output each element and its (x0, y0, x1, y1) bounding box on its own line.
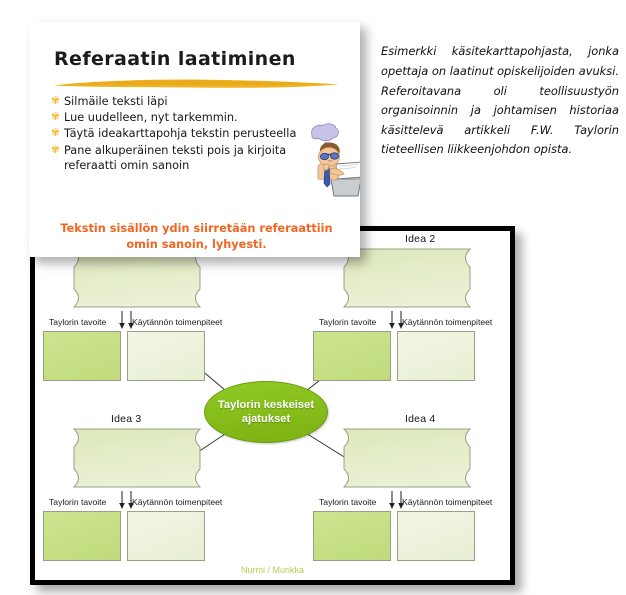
list-item: ✾ Täytä ideakarttapohja tekstin perustee… (51, 126, 301, 141)
presentation-slide[interactable]: Referaatin laatiminen ✾ Silmäile teksti … (29, 22, 360, 257)
down-arrow-icon-action-4 (397, 491, 407, 509)
idea-card-1[interactable] (65, 248, 209, 308)
goal-cell-4[interactable] (313, 511, 391, 561)
action-cell-3[interactable] (127, 511, 205, 561)
slide-bullet-list: ✾ Silmäile teksti läpi ✾ Lue uudelleen, … (51, 94, 301, 174)
sub-label-goal-2: Taylorin tavoite (319, 317, 376, 327)
bullet-text: Pane alkuperäinen teksti pois ja kirjoit… (64, 143, 301, 173)
title-underline-brushstroke (51, 76, 341, 89)
action-cell-4[interactable] (397, 511, 475, 561)
slide-highlight-line1: Tekstin sisällön ydin siirretään referaa… (60, 222, 332, 235)
idea-card-2[interactable] (335, 248, 479, 308)
idea-label-2: Idea 2 (405, 233, 435, 245)
down-arrow-icon-action-1 (127, 311, 137, 329)
down-arrow-icon-action-2 (397, 311, 407, 329)
flower-bullet-icon: ✾ (51, 126, 64, 141)
idea-label-4: Idea 4 (405, 413, 435, 425)
sub-label-action-1: Käytännön toimenpiteet (132, 317, 222, 327)
bullet-text: Täytä ideakarttapohja tekstin perusteell… (64, 126, 296, 141)
centre-node-label: Taylorin keskeiset ajatukset (204, 381, 328, 443)
centre-node-line1: Taylorin keskeiset (218, 399, 314, 411)
slide-title: Referaatin laatiminen (54, 48, 296, 70)
down-arrow-icon-action-3 (127, 491, 137, 509)
sub-label-action-2: Käytännön toimenpiteet (402, 317, 492, 327)
idea-card-4[interactable] (335, 428, 479, 488)
person-thinking-with-box-clipart (306, 122, 360, 198)
goal-cell-2[interactable] (313, 331, 391, 381)
concept-map-frame: Idea 1 Taylorin tavoite Käytännön toimen… (30, 226, 515, 585)
sub-label-goal-4: Taylorin tavoite (319, 497, 376, 507)
centre-node-line2: ajatukset (242, 413, 291, 425)
bullet-text: Silmäile teksti läpi (64, 94, 168, 109)
diagram-footer: Nurmi / Murikka (35, 565, 510, 575)
caption-paragraph: Esimerkki käsitekarttapohjasta, jonka op… (381, 42, 619, 160)
slide-highlight-text: Tekstin sisällön ydin siirretään referaa… (49, 221, 344, 253)
list-item: ✾ Pane alkuperäinen teksti pois ja kirjo… (51, 143, 301, 173)
flower-bullet-icon: ✾ (51, 143, 64, 158)
centre-node[interactable]: Taylorin keskeiset ajatukset (204, 381, 328, 443)
idea-card-3[interactable] (65, 428, 209, 488)
list-item: ✾ Lue uudelleen, nyt tarkemmin. (51, 110, 301, 125)
action-cell-2[interactable] (397, 331, 475, 381)
flower-bullet-icon: ✾ (51, 94, 64, 109)
idea-label-3: Idea 3 (111, 413, 141, 425)
action-cell-1[interactable] (127, 331, 205, 381)
slide-highlight-line2: omin sanoin, lyhyesti. (126, 238, 266, 251)
goal-cell-1[interactable] (43, 331, 121, 381)
goal-cell-3[interactable] (43, 511, 121, 561)
sub-label-action-3: Käytännön toimenpiteet (132, 497, 222, 507)
sub-label-goal-3: Taylorin tavoite (49, 497, 106, 507)
flower-bullet-icon: ✾ (51, 110, 64, 125)
sub-label-goal-1: Taylorin tavoite (49, 317, 106, 327)
sub-label-action-4: Käytännön toimenpiteet (402, 497, 492, 507)
list-item: ✾ Silmäile teksti läpi (51, 94, 301, 109)
concept-map-canvas: Idea 1 Taylorin tavoite Käytännön toimen… (35, 231, 510, 580)
bullet-text: Lue uudelleen, nyt tarkemmin. (64, 110, 238, 125)
